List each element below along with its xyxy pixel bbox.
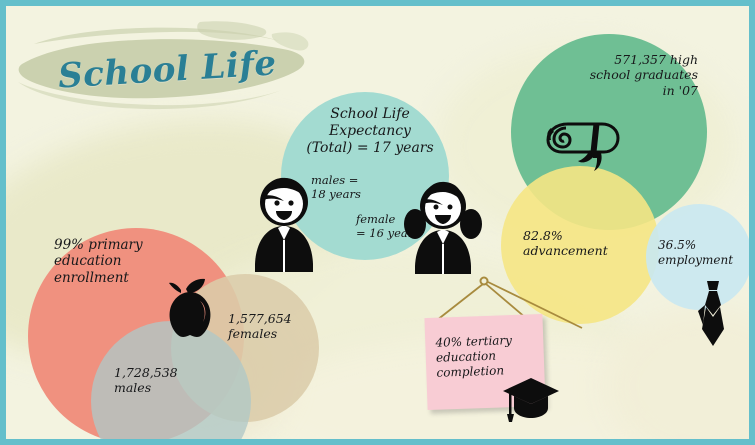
label-employment: 36.5% employment — [658, 238, 740, 267]
diploma-scroll-icon — [546, 114, 626, 172]
infographic-canvas: School Life 99% primary education enroll… — [0, 0, 755, 445]
graduation-cap-icon — [502, 374, 560, 424]
apple-icon — [164, 278, 216, 340]
label-high-school-graduates: 571,357 high school graduates in '07 — [572, 52, 698, 98]
page-title: School Life — [57, 43, 278, 96]
label-school-life-expectancy-total: School Life Expectancy (Total) = 17 year… — [298, 106, 442, 157]
label-advancement: 82.8% advancement — [523, 228, 623, 259]
label-male-expectancy: males = 18 years — [311, 173, 381, 201]
label-males: 1,728,538 males — [114, 365, 214, 396]
hanging-sign: 40% tertiary education completion — [404, 276, 584, 441]
male-person-icon — [252, 174, 316, 272]
female-person-icon — [404, 178, 482, 274]
label-females: 1,577,654 females — [228, 311, 320, 342]
background-wash — [606, 306, 755, 445]
necktie-icon — [696, 281, 730, 347]
